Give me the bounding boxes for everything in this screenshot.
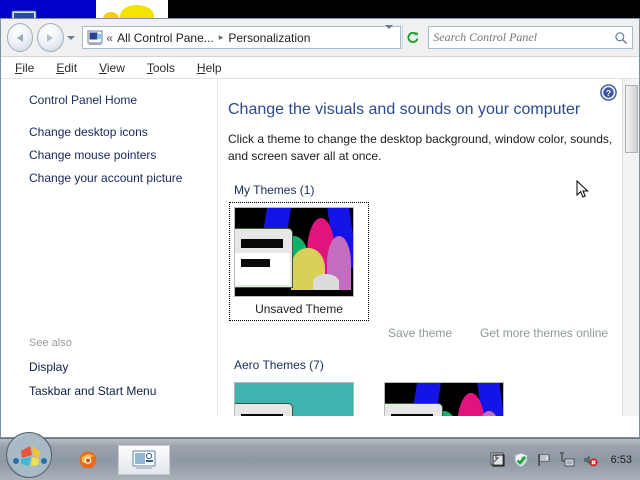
taskbar: 6:53 — [0, 438, 640, 480]
thumb-window-preview — [384, 403, 443, 416]
breadcrumb-item-personalization[interactable]: Personalization — [228, 31, 310, 45]
windows-logo-icon — [7, 433, 52, 478]
taskbar-item-control-panel[interactable] — [118, 445, 170, 475]
theme-thumbnail-unsaved-theme — [234, 207, 354, 297]
theme-label-unsaved-theme: Unsaved Theme — [234, 302, 364, 316]
vertical-scrollbar[interactable] — [622, 79, 639, 416]
main-panel: ? Change the visuals and sounds on your … — [217, 79, 639, 416]
thumb-window-preview — [234, 403, 293, 416]
start-button[interactable] — [6, 432, 52, 478]
sidebar-item-change-account-picture[interactable]: Change your account picture — [29, 171, 217, 185]
see-also-section: See also Display Taskbar and Start Menu — [29, 337, 156, 408]
control-panel-icon — [131, 449, 157, 471]
section-heading-aero-themes: Aero Themes (7) — [234, 358, 613, 372]
forward-button[interactable] — [37, 23, 63, 52]
theme-actions: Save theme Get more themes online — [388, 326, 613, 340]
my-themes-tile-row: Unsaved Theme — [228, 207, 613, 316]
firefox-icon — [77, 449, 99, 471]
thumb-window-preview — [234, 228, 293, 288]
taskbar-button-list — [62, 445, 170, 475]
breadcrumb-overflow-icon[interactable]: « — [106, 31, 113, 45]
screen: « All Control Pane... ▸ Personalization — [0, 0, 640, 480]
breadcrumb-separator-icon[interactable]: ▸ — [219, 33, 224, 42]
scrollbar-thumb[interactable] — [625, 85, 638, 153]
theme-thumbnail-aero-2 — [384, 382, 504, 416]
menu-item-file[interactable]: File — [15, 61, 34, 75]
taskbar-item-firefox[interactable] — [62, 445, 114, 475]
tray-action-center-icon[interactable] — [536, 452, 552, 468]
get-more-themes-online-link[interactable]: Get more themes online — [480, 326, 608, 340]
menu-item-view[interactable]: View — [99, 61, 125, 75]
menu-item-edit[interactable]: Edit — [56, 61, 77, 75]
content-area: Control Panel Home Change desktop icons … — [1, 79, 639, 416]
section-heading-my-themes: My Themes (1) — [234, 183, 613, 197]
tray-show-hidden-icon[interactable] — [490, 452, 506, 468]
sidebar: Control Panel Home Change desktop icons … — [1, 79, 217, 416]
theme-thumbnail-aero-1 — [234, 382, 354, 416]
save-theme-link[interactable]: Save theme — [388, 326, 452, 340]
address-dropdown-icon[interactable] — [385, 29, 393, 47]
menu-item-tools[interactable]: Tools — [147, 61, 175, 75]
thumb-art-white — [313, 274, 339, 290]
theme-tile-unsaved-theme[interactable]: Unsaved Theme — [234, 207, 364, 316]
search-icon[interactable] — [614, 31, 628, 45]
theme-tile-aero-2[interactable] — [384, 382, 514, 416]
control-panel-window: « All Control Pane... ▸ Personalization — [0, 18, 640, 438]
see-also-item-taskbar-and-start-menu[interactable]: Taskbar and Start Menu — [29, 384, 156, 398]
sidebar-item-change-desktop-icons[interactable]: Change desktop icons — [29, 125, 217, 139]
navigation-bar: « All Control Pane... ▸ Personalization — [1, 19, 639, 57]
svg-text:?: ? — [606, 88, 611, 98]
sidebar-item-control-panel-home[interactable]: Control Panel Home — [29, 93, 217, 107]
menu-item-help[interactable]: Help — [197, 61, 222, 75]
see-also-title: See also — [29, 337, 156, 349]
breadcrumb-item-all-control-panel[interactable]: All Control Pane... — [117, 31, 214, 45]
search-box[interactable] — [428, 26, 633, 49]
theme-tile-aero-1[interactable] — [234, 382, 364, 416]
menu-bar: File Edit View Tools Help — [1, 57, 639, 79]
refresh-button[interactable] — [402, 26, 422, 49]
see-also-item-display[interactable]: Display — [29, 360, 156, 374]
recent-pages-button[interactable] — [65, 25, 77, 51]
taskbar-clock[interactable]: 6:53 — [611, 454, 632, 466]
tray-security-icon[interactable] — [513, 452, 529, 468]
control-panel-icon — [87, 30, 103, 46]
search-input[interactable] — [433, 30, 614, 45]
back-button[interactable] — [7, 23, 33, 52]
tray-network-icon[interactable] — [559, 452, 575, 468]
tray-volume-icon[interactable] — [582, 452, 598, 468]
aero-themes-tile-row — [228, 382, 613, 416]
address-bar[interactable]: « All Control Pane... ▸ Personalization — [82, 26, 401, 49]
page-subtitle: Click a theme to change the desktop back… — [228, 131, 613, 165]
refresh-icon — [405, 30, 420, 45]
help-icon[interactable]: ? — [600, 84, 617, 101]
sidebar-item-change-mouse-pointers[interactable]: Change mouse pointers — [29, 148, 217, 162]
page-title: Change the visuals and sounds on your co… — [228, 101, 613, 119]
system-tray: 6:53 — [490, 439, 636, 480]
